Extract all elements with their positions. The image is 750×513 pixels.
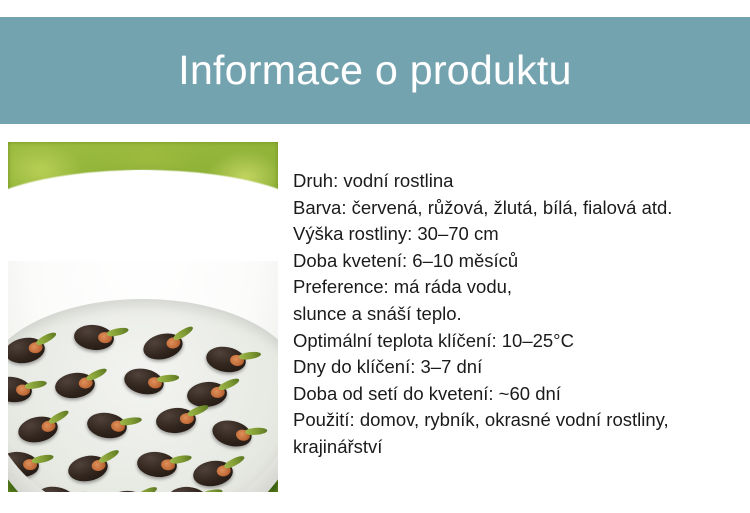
lotus-seed [15,413,59,446]
lotus-seed [135,450,178,480]
lotus-seed [66,453,110,485]
lotus-seed [8,450,40,479]
spec-line: krajinářství [293,434,745,461]
bowl-water-basin [8,299,278,492]
spec-line: Barva: červená, růžová, žlutá, bílá, fia… [293,195,745,222]
page-title: Informace o produktu [178,50,571,91]
lotus-seed [104,489,147,492]
product-photo [8,142,278,492]
spec-line: Výška rostliny: 30–70 cm [293,221,745,248]
lotus-seed [210,417,255,451]
lotus-seed [141,329,186,363]
spec-line: Použití: domov, rybník, okrasné vodní ro… [293,407,745,434]
lotus-seed [155,406,197,434]
lotus-seed [191,458,234,489]
lotus-seed [122,365,166,398]
lotus-seed [54,370,97,400]
spec-line: slunce a snáší teplo. [293,301,745,328]
product-info-header-band: Informace o produktu [0,17,750,124]
lotus-seed [34,484,78,492]
spec-line: Doba kvetení: 6–10 měsíců [293,248,745,275]
lotus-seed [85,410,128,441]
spec-line: Druh: vodní rostlina [293,168,745,195]
bowl-scalloped-rim [8,170,278,261]
spec-line: Preference: má ráda vodu, [293,274,745,301]
lotus-seed [167,485,209,492]
product-spec-list: Druh: vodní rostlinaBarva: červená, růžo… [293,168,745,461]
lotus-seed [8,335,47,367]
spec-line: Doba od setí do kvetení: ~60 dní [293,381,745,408]
lotus-seed [73,323,115,352]
lotus-seed [8,375,34,405]
lotus-seed [204,343,248,375]
white-bowl [8,170,278,492]
spec-line: Dny do klíčení: 3–7 dní [293,354,745,381]
spec-line: Optimální teplota klíčení: 10–25°C [293,328,745,355]
